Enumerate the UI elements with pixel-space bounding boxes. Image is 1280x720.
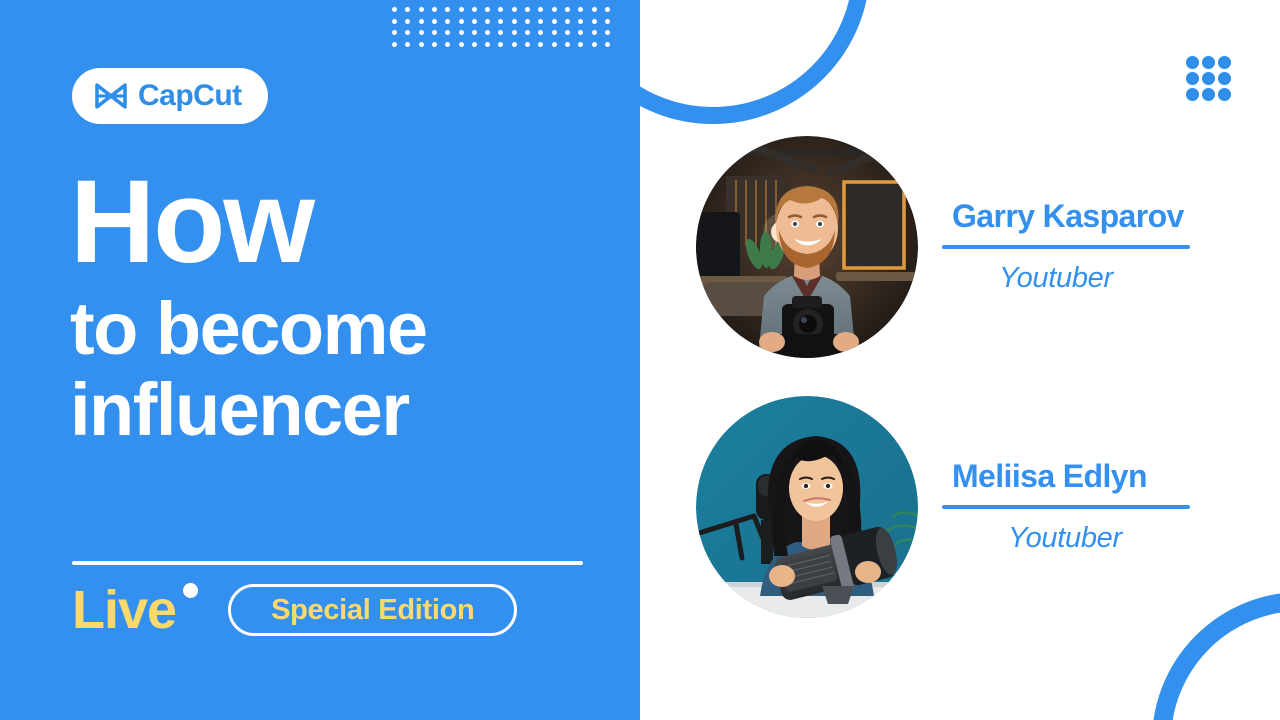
special-edition-button[interactable]: Special Edition	[228, 584, 517, 636]
grid-dot	[432, 42, 437, 47]
grid-dot	[459, 42, 464, 47]
guest-name-2: Meliisa Edlyn	[942, 459, 1204, 494]
grid-dot	[485, 30, 490, 35]
grid-dot	[512, 30, 517, 35]
grid-dot	[1218, 72, 1231, 85]
grid-dot	[432, 19, 437, 24]
grid-dot	[392, 7, 397, 12]
guest-role-2: Youtuber	[942, 523, 1204, 555]
guest-name-1: Garry Kasparov	[942, 199, 1204, 234]
grid-dot	[405, 19, 410, 24]
grid-dot	[472, 19, 477, 24]
grid-dot	[578, 42, 583, 47]
grid-dot	[552, 19, 557, 24]
headline-block: How to become influencer	[70, 168, 615, 450]
grid-dot	[552, 30, 557, 35]
headline-divider	[72, 561, 583, 565]
grid-dot	[1218, 56, 1231, 69]
grid-dot	[445, 7, 450, 12]
grid-dot	[498, 19, 503, 24]
capcut-hourglass-icon	[94, 81, 128, 111]
grid-dot	[405, 42, 410, 47]
grid-dot	[392, 30, 397, 35]
grid-dot	[1202, 56, 1215, 69]
grid-dot	[565, 7, 570, 12]
white-dot-grid-icon	[388, 4, 614, 50]
guest-role-1: Youtuber	[942, 263, 1204, 295]
grid-dot	[605, 7, 610, 12]
grid-dot	[578, 19, 583, 24]
live-label: Live	[72, 583, 202, 637]
grid-dot	[578, 30, 583, 35]
live-text: Live	[72, 580, 176, 640]
grid-dot	[432, 30, 437, 35]
grid-dot	[472, 7, 477, 12]
grid-dot	[405, 30, 410, 35]
grid-dot	[538, 42, 543, 47]
grid-dot	[419, 30, 424, 35]
live-indicator-dot-icon	[183, 583, 198, 598]
grid-dot	[525, 42, 530, 47]
woman-with-studio-light-photo	[696, 396, 918, 618]
grid-dot	[538, 30, 543, 35]
poster-canvas: CapCut How to become influencer Live Spe…	[0, 0, 1280, 720]
guest-card-1[interactable]: Garry Kasparov Youtuber	[696, 136, 1204, 358]
grid-dot	[485, 42, 490, 47]
grid-dot	[498, 30, 503, 35]
grid-dot	[419, 7, 424, 12]
grid-dot	[472, 42, 477, 47]
grid-dot	[525, 19, 530, 24]
grid-dot	[1186, 56, 1199, 69]
grid-dot	[459, 30, 464, 35]
guest-avatar-1	[696, 136, 918, 358]
grid-dot	[592, 7, 597, 12]
guest-info-1: Garry Kasparov Youtuber	[942, 199, 1204, 294]
grid-dot	[592, 19, 597, 24]
grid-dot	[1202, 88, 1215, 101]
capcut-wordmark: CapCut	[138, 81, 242, 111]
headline-line-2: to become	[70, 289, 615, 369]
grid-dot	[445, 42, 450, 47]
grid-dot	[1218, 88, 1231, 101]
grid-dot	[485, 19, 490, 24]
guest-card-2[interactable]: Meliisa Edlyn Youtuber	[696, 396, 1204, 618]
guest-rule-2	[942, 505, 1190, 509]
grid-dot	[485, 7, 490, 12]
grid-dot	[512, 7, 517, 12]
grid-dot	[459, 19, 464, 24]
grid-dot	[605, 42, 610, 47]
guest-info-2: Meliisa Edlyn Youtuber	[942, 459, 1204, 554]
grid-dot	[392, 42, 397, 47]
grid-dot	[525, 7, 530, 12]
grid-dot	[419, 19, 424, 24]
grid-dot	[605, 19, 610, 24]
guest-rule-1	[942, 245, 1190, 249]
grid-dot	[538, 19, 543, 24]
grid-dot	[1186, 88, 1199, 101]
live-badge-row: Live Special Edition	[72, 583, 517, 637]
grid-dot	[498, 42, 503, 47]
grid-dot	[498, 7, 503, 12]
grid-dot	[405, 7, 410, 12]
grid-dot	[552, 42, 557, 47]
special-edition-label: Special Edition	[271, 596, 474, 625]
grid-dot	[392, 19, 397, 24]
grid-dot	[565, 19, 570, 24]
bearded-man-with-camera-photo	[696, 136, 918, 358]
grid-dot	[432, 7, 437, 12]
grid-dot	[419, 42, 424, 47]
headline-line-1: How	[70, 168, 615, 277]
grid-dot	[512, 19, 517, 24]
grid-dot	[472, 30, 477, 35]
grid-dot	[1186, 72, 1199, 85]
blue-dot-grid-icon	[1184, 54, 1232, 102]
grid-dot	[538, 7, 543, 12]
grid-dot	[1202, 72, 1215, 85]
grid-dot	[578, 7, 583, 12]
grid-dot	[445, 19, 450, 24]
grid-dot	[525, 30, 530, 35]
headline-line-3: influencer	[70, 370, 615, 450]
grid-dot	[445, 30, 450, 35]
grid-dot	[552, 7, 557, 12]
grid-dot	[592, 30, 597, 35]
grid-dot	[459, 7, 464, 12]
guest-avatar-2	[696, 396, 918, 618]
grid-dot	[565, 42, 570, 47]
capcut-logo[interactable]: CapCut	[72, 68, 268, 124]
grid-dot	[512, 42, 517, 47]
grid-dot	[565, 30, 570, 35]
grid-dot	[605, 30, 610, 35]
grid-dot	[592, 42, 597, 47]
